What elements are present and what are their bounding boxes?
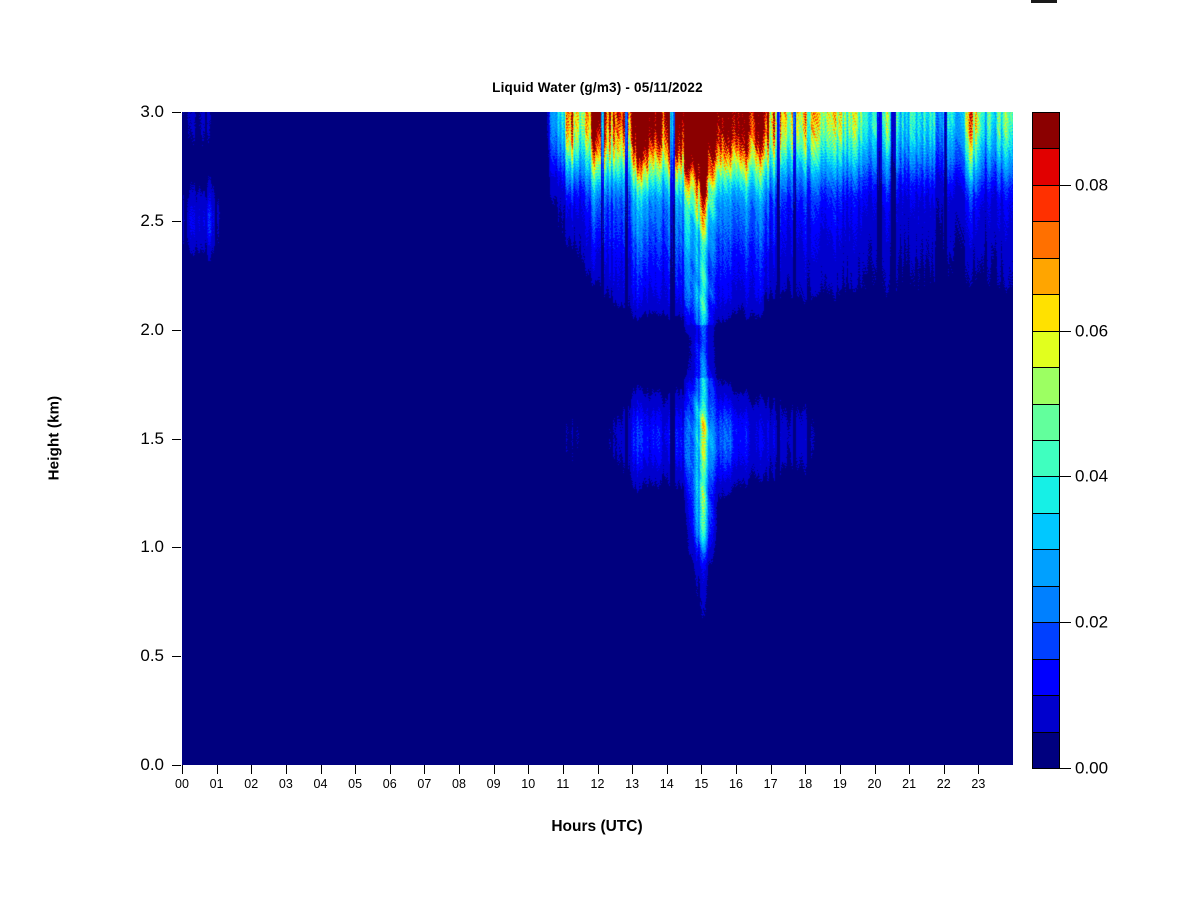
x-tick-label: 15 bbox=[694, 778, 708, 791]
x-tick-mark bbox=[424, 765, 425, 774]
x-tick-mark bbox=[494, 765, 495, 774]
liquid-water-heatmap bbox=[182, 112, 1013, 765]
y-tick-mark bbox=[172, 439, 181, 440]
y-tick-mark bbox=[172, 547, 181, 548]
x-tick-label: 14 bbox=[660, 778, 674, 791]
x-tick-mark bbox=[978, 765, 979, 774]
x-tick-mark bbox=[390, 765, 391, 774]
top-right-artifact bbox=[1031, 0, 1057, 3]
x-tick-label: 11 bbox=[556, 778, 569, 791]
colorbar-tick-mark bbox=[1060, 331, 1071, 332]
x-tick-mark bbox=[528, 765, 529, 774]
y-tick-label: 1.0 bbox=[104, 538, 164, 555]
x-tick-label: 22 bbox=[937, 778, 951, 791]
colorbar-tick-label: 0.04 bbox=[1075, 468, 1108, 485]
x-tick-mark bbox=[251, 765, 252, 774]
colorbar-band bbox=[1032, 258, 1060, 295]
colorbar-band bbox=[1032, 331, 1060, 368]
x-tick-mark bbox=[736, 765, 737, 774]
colorbar: 0.000.020.040.060.08 bbox=[1032, 112, 1060, 768]
x-tick-label: 17 bbox=[764, 778, 778, 791]
y-tick-label: 3.0 bbox=[104, 103, 164, 120]
x-tick-mark bbox=[875, 765, 876, 774]
y-tick-label: 2.5 bbox=[104, 212, 164, 229]
heatmap-plot-area: 0.00.51.01.52.02.53.0 000102030405060708… bbox=[182, 112, 1013, 765]
x-axis-title: Hours (UTC) bbox=[551, 818, 642, 836]
colorbar-band bbox=[1032, 622, 1060, 659]
x-tick-mark bbox=[771, 765, 772, 774]
colorbar-band bbox=[1032, 221, 1060, 258]
x-tick-mark bbox=[355, 765, 356, 774]
x-tick-mark bbox=[459, 765, 460, 774]
x-tick-label: 06 bbox=[383, 778, 397, 791]
x-tick-mark bbox=[667, 765, 668, 774]
colorbar-tick-label: 0.02 bbox=[1075, 614, 1108, 631]
y-axis-title: Height (km) bbox=[46, 396, 63, 481]
x-tick-label: 13 bbox=[625, 778, 639, 791]
x-tick-mark bbox=[598, 765, 599, 774]
x-tick-mark bbox=[321, 765, 322, 774]
x-tick-label: 19 bbox=[833, 778, 847, 791]
colorbar-tick-label: 0.00 bbox=[1075, 760, 1108, 777]
colorbar-tick-label: 0.08 bbox=[1075, 176, 1108, 193]
colorbar-band bbox=[1032, 549, 1060, 586]
x-tick-label: 18 bbox=[798, 778, 812, 791]
colorbar-band bbox=[1032, 404, 1060, 441]
x-tick-label: 02 bbox=[244, 778, 258, 791]
x-tick-mark bbox=[182, 765, 183, 774]
y-tick-mark bbox=[172, 221, 181, 222]
x-tick-label: 09 bbox=[487, 778, 501, 791]
x-tick-label: 00 bbox=[175, 778, 189, 791]
colorbar-tick-mark bbox=[1060, 622, 1071, 623]
x-tick-mark bbox=[909, 765, 910, 774]
x-tick-label: 16 bbox=[729, 778, 743, 791]
x-tick-mark bbox=[805, 765, 806, 774]
y-tick-label: 1.5 bbox=[104, 430, 164, 447]
x-tick-mark bbox=[563, 765, 564, 774]
y-tick-label: 0.5 bbox=[104, 647, 164, 664]
x-tick-label: 08 bbox=[452, 778, 466, 791]
colorbar-band bbox=[1032, 440, 1060, 477]
x-tick-label: 21 bbox=[902, 778, 916, 791]
colorbar-band bbox=[1032, 148, 1060, 185]
colorbar-band bbox=[1032, 695, 1060, 732]
colorbar-band bbox=[1032, 659, 1060, 696]
colorbar-band bbox=[1032, 732, 1060, 769]
colorbar-band bbox=[1032, 476, 1060, 513]
x-tick-label: 07 bbox=[417, 778, 431, 791]
page-title: Liquid Water (g/m3) - 05/11/2022 bbox=[182, 80, 1013, 95]
colorbar-band bbox=[1032, 513, 1060, 550]
x-tick-label: 03 bbox=[279, 778, 293, 791]
x-tick-label: 23 bbox=[971, 778, 985, 791]
y-tick-mark bbox=[172, 330, 181, 331]
x-tick-mark bbox=[286, 765, 287, 774]
x-tick-label: 05 bbox=[348, 778, 362, 791]
colorbar-band bbox=[1032, 586, 1060, 623]
x-tick-mark bbox=[217, 765, 218, 774]
colorbar-tick-label: 0.06 bbox=[1075, 322, 1108, 339]
figure-canvas: Liquid Water (g/m3) - 05/11/2022 0.00.51… bbox=[0, 0, 1200, 900]
colorbar-tick-mark bbox=[1060, 476, 1071, 477]
y-tick-mark bbox=[172, 765, 181, 766]
y-tick-label: 0.0 bbox=[104, 756, 164, 773]
x-tick-label: 04 bbox=[314, 778, 328, 791]
x-tick-mark bbox=[701, 765, 702, 774]
colorbar-band bbox=[1032, 294, 1060, 331]
colorbar-tick-mark bbox=[1060, 768, 1071, 769]
x-tick-label: 01 bbox=[210, 778, 224, 791]
colorbar-tick-mark bbox=[1060, 185, 1071, 186]
colorbar-band bbox=[1032, 185, 1060, 222]
y-tick-label: 2.0 bbox=[104, 321, 164, 338]
colorbar-band bbox=[1032, 367, 1060, 404]
x-tick-label: 10 bbox=[521, 778, 535, 791]
x-tick-label: 20 bbox=[868, 778, 882, 791]
colorbar-band bbox=[1032, 112, 1060, 149]
y-tick-mark bbox=[172, 112, 181, 113]
x-tick-mark bbox=[944, 765, 945, 774]
x-tick-label: 12 bbox=[591, 778, 605, 791]
x-tick-mark bbox=[632, 765, 633, 774]
x-tick-mark bbox=[840, 765, 841, 774]
y-tick-mark bbox=[172, 656, 181, 657]
